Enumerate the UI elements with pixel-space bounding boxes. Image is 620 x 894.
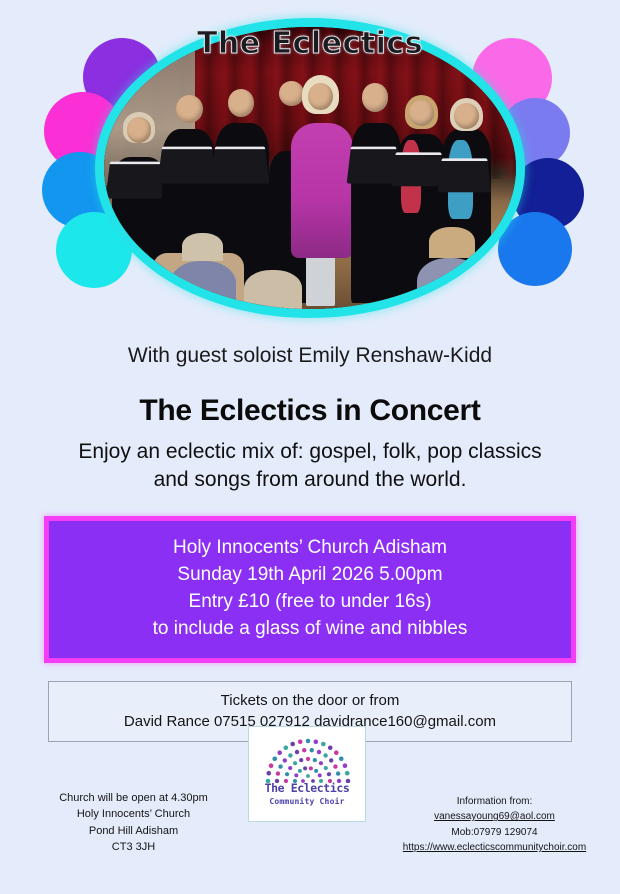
music-folder: [392, 152, 446, 186]
event-datetime: Sunday 19th April 2026 5.00pm: [49, 562, 571, 589]
singer-head: [127, 117, 152, 142]
audience-member: [244, 270, 302, 309]
singer-head: [176, 95, 203, 123]
guest-soloist-line: With guest soloist Emily Renshaw-Kidd: [0, 344, 620, 368]
page-title: The Eclectics in Concert: [0, 394, 620, 428]
event-details-box: Holy Innocents’ Church Adisham Sunday 19…: [44, 516, 576, 663]
information-mobile: Mob:07979 129074: [387, 825, 602, 841]
information-block: Information from: vanessayoung69@aol.com…: [387, 794, 602, 856]
venue-open-time: Church will be open at 4.30pm: [26, 790, 241, 807]
choir-logo: The Eclectics Community Choir: [248, 726, 366, 822]
audience-member: [170, 261, 236, 309]
photo-title-overlay: The Eclectics: [0, 26, 620, 61]
audience-hair: [429, 227, 474, 258]
music-folder: [157, 147, 216, 184]
information-email[interactable]: vanessayoung69@aol.com: [387, 809, 602, 825]
choir-photo-oval: [95, 18, 525, 318]
venue-info: Church will be open at 4.30pm Holy Innoc…: [26, 790, 241, 856]
event-venue: Holy Innocents’ Church Adisham: [49, 535, 571, 562]
music-folder: [211, 147, 270, 184]
venue-postcode: CT3 3JH: [26, 839, 241, 856]
tagline-line-2: and songs from around the world.: [0, 466, 620, 494]
music-folder: [438, 158, 492, 192]
tagline-line-1: Enjoy an eclectic mix of: gospel, folk, …: [0, 438, 620, 466]
tickets-heading: Tickets on the door or from: [49, 690, 571, 711]
tagline: Enjoy an eclectic mix of: gospel, folk, …: [0, 438, 620, 494]
event-extras: to include a glass of wine and nibbles: [49, 616, 571, 643]
logo-subtitle: Community Choir: [249, 797, 365, 806]
information-heading: Information from:: [387, 794, 602, 810]
singer-head: [362, 83, 389, 111]
singer-head: [409, 100, 434, 125]
venue-name: Holy Innocents’ Church: [26, 806, 241, 823]
choir-photograph: [104, 27, 516, 309]
logo-name: The Eclectics: [249, 781, 365, 795]
venue-street: Pond Hill Adisham: [26, 823, 241, 840]
hero-banner: The Eclectics: [0, 0, 620, 328]
audience-member: [417, 258, 483, 309]
event-price: Entry £10 (free to under 16s): [49, 589, 571, 616]
singer-head: [279, 81, 304, 106]
soloist-figure: [291, 123, 353, 258]
information-website[interactable]: https://www.eclecticscommunitychoir.com: [387, 840, 602, 856]
rainbow-dots-icon: [249, 731, 367, 783]
singer-head: [454, 103, 479, 128]
music-folder: [106, 161, 165, 198]
audience-hair: [182, 233, 223, 261]
soloist-head: [308, 83, 333, 110]
